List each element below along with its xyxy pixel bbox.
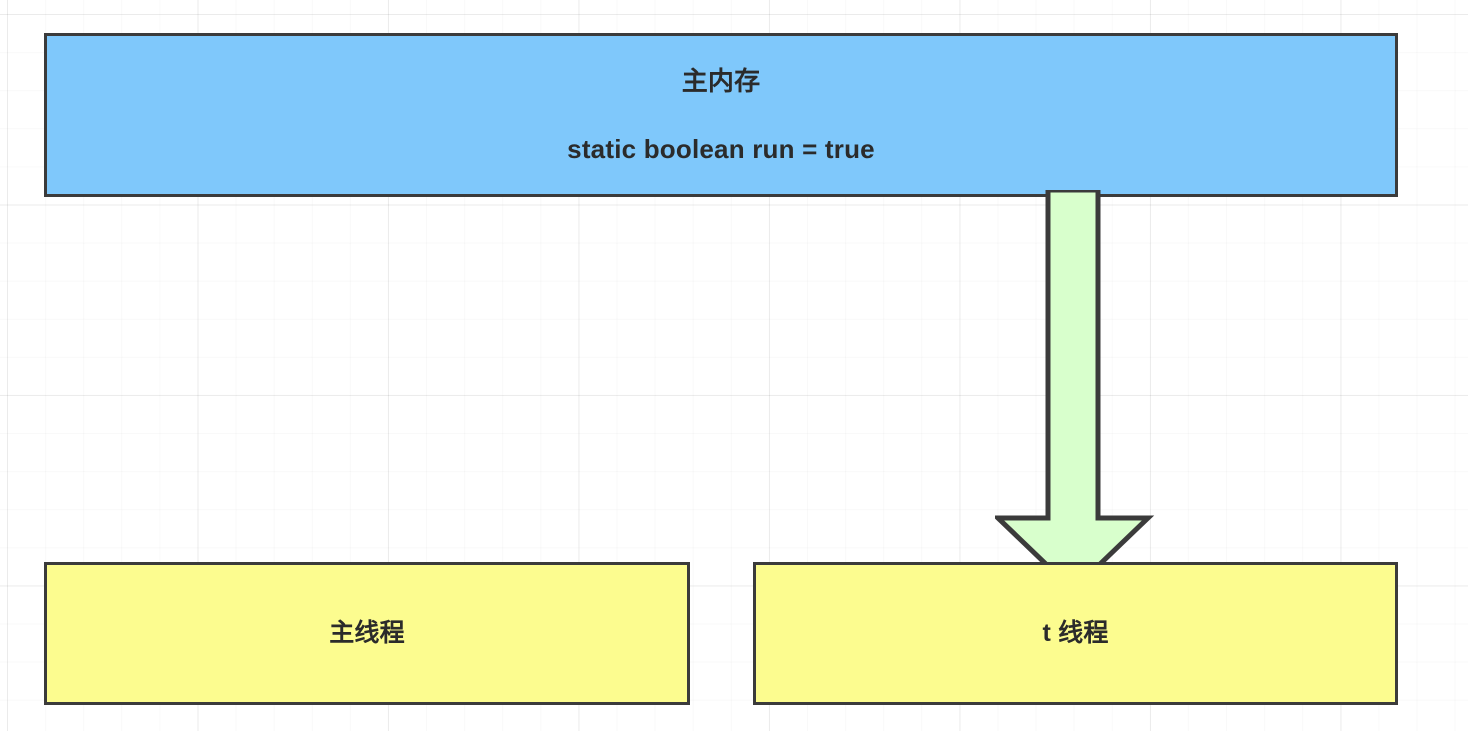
main-memory-to-t-thread-arrow[interactable]: [995, 190, 1157, 598]
main-memory-label: 主内存 static boolean run = true: [567, 29, 875, 201]
t-thread-label: t 线程: [1042, 617, 1108, 650]
main-memory-title: 主内存: [567, 64, 875, 98]
down-arrow-icon: [998, 190, 1148, 590]
t-thread-box[interactable]: t 线程: [753, 562, 1398, 705]
main-thread-label: 主线程: [329, 617, 405, 650]
main-memory-declaration: static boolean run = true: [567, 132, 875, 166]
diagram-canvas: 主内存 static boolean run = true 主线程 t 线程: [0, 0, 1468, 731]
main-thread-box[interactable]: 主线程: [44, 562, 690, 705]
main-memory-box[interactable]: 主内存 static boolean run = true: [44, 33, 1398, 197]
